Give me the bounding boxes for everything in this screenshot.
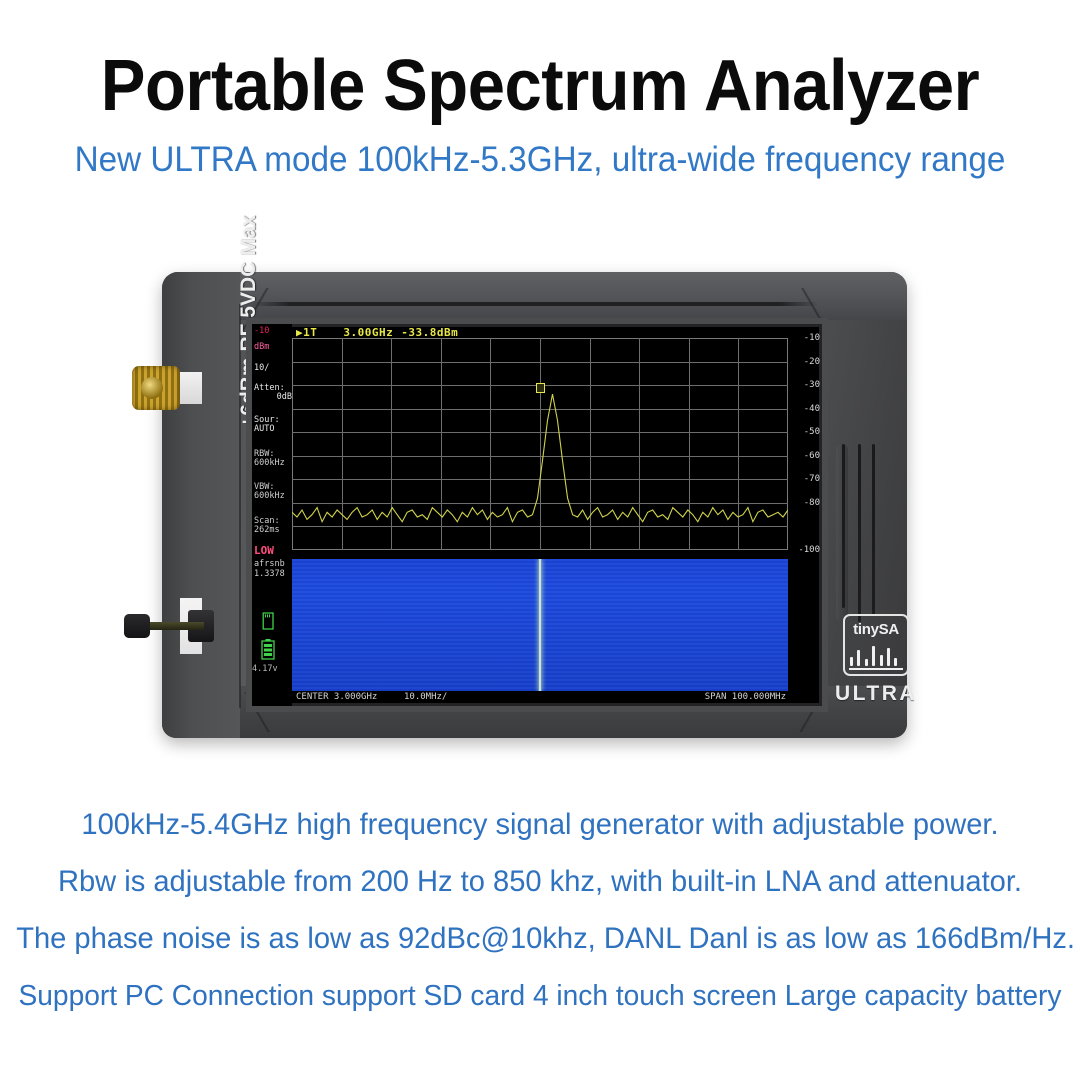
info-value: 1.3378 [254,570,292,580]
sd-card-icon [260,612,276,630]
marker-frequency: 3.00GHz [343,326,393,339]
logo-bar [894,658,897,666]
db-axis-tick: -70 [804,474,820,484]
speaker-vent-slots [828,444,888,622]
logo-bar [865,659,868,666]
status-span: SPAN 100.000MHz [705,692,786,702]
db-axis-tick: -20 [804,357,820,367]
db-axis-tick: -60 [804,451,820,461]
device-left-edge [162,272,240,738]
status-center-freq: CENTER 3.000GHz [296,692,377,702]
page-subtitle: New ULTRA mode 100kHz-5.3GHz, ultra-wide… [27,140,1053,180]
spectrum-trace [292,338,788,550]
marker-readout: ▶1T3.00GHz-33.8dBm [296,326,458,340]
feature-line-1: 100kHz-5.4GHz high frequency signal gene… [16,810,1064,840]
rf-connector-stem [148,622,204,630]
feature-line-3: The phase noise is as low as 92dBc@10khz… [16,924,1064,954]
logo-brand-text: tinySA [845,621,907,638]
db-axis-tick: -100 [798,545,820,555]
headline-block: Portable Spectrum Analyzer New ULTRA mod… [0,48,1080,180]
logo-bar [872,646,875,666]
tinysa-ultra-device: CAL +6dBm RF 5VDC Max RF -10 dBm 10/ Att… [140,258,930,738]
feature-line-4: Support PC Connection support SD card 4 … [16,981,1064,1011]
vent-slot [858,444,861,622]
logo-bar [880,655,883,666]
info-vbw-value: 600kHz [254,492,292,502]
waterfall-signal-line [538,559,542,691]
logo-bar [887,648,890,666]
status-step-size: 10.0MHz/ [404,692,447,702]
info-rbw-value: 600kHz [254,459,292,469]
marker-flag-icon [536,383,545,393]
info-scan-value: 262ms [254,526,292,536]
info-source-value: AUTO [254,425,292,435]
info-unit: dBm [254,343,292,353]
info-ref-level: -10 [254,327,292,337]
db-axis-tick: -80 [804,498,820,508]
page-title: Portable Spectrum Analyzer [38,48,1042,124]
db-axis-tick: -30 [804,380,820,390]
logo-baseline [849,668,903,670]
screen-status-bar: CENTER 3.000GHz 10.0MHz/ SPAN 100.000MHz [292,691,788,704]
info-scale: 10/ [254,364,292,374]
device-screen[interactable]: -10 dBm 10/ Atten: 0dB Sour: AUTO RBW: 6… [252,324,822,706]
logo-model-text: ULTRA [830,682,922,706]
vent-slot [842,444,845,608]
vent-slot [872,444,875,615]
battery-icon [261,638,275,660]
logo-spectrum-bars-icon [850,644,902,666]
battery-voltage-label: 4.17v [252,664,292,674]
info-atten-value: 0dB [254,393,292,403]
cal-sma-connector[interactable] [132,366,180,410]
feature-line-2: Rbw is adjustable from 200 Hz to 850 khz… [16,867,1064,897]
screen-bezel-highlight [252,320,828,323]
marker-id: ▶1T [296,326,317,339]
db-axis-tick: -50 [804,427,820,437]
feature-list: 100kHz-5.4GHz high frequency signal gene… [0,810,1080,1011]
brand-logo: tinySA ULTRA [830,614,922,706]
logo-frame: tinySA [843,614,909,676]
logo-bar [857,650,860,666]
device-photo: CAL +6dBm RF 5VDC Max RF -10 dBm 10/ Att… [0,250,1080,750]
info-mode-low: LOW [254,546,292,556]
db-axis-tick: -10 [804,333,820,343]
rf-sma-connector[interactable] [124,614,150,638]
db-axis-tick: -40 [804,404,820,414]
db-axis-labels: -10-20-30-40-50-60-70-80-100 [790,334,822,556]
logo-bar [850,657,853,666]
waterfall-display [292,559,788,691]
marker-level: -33.8dBm [401,326,458,339]
